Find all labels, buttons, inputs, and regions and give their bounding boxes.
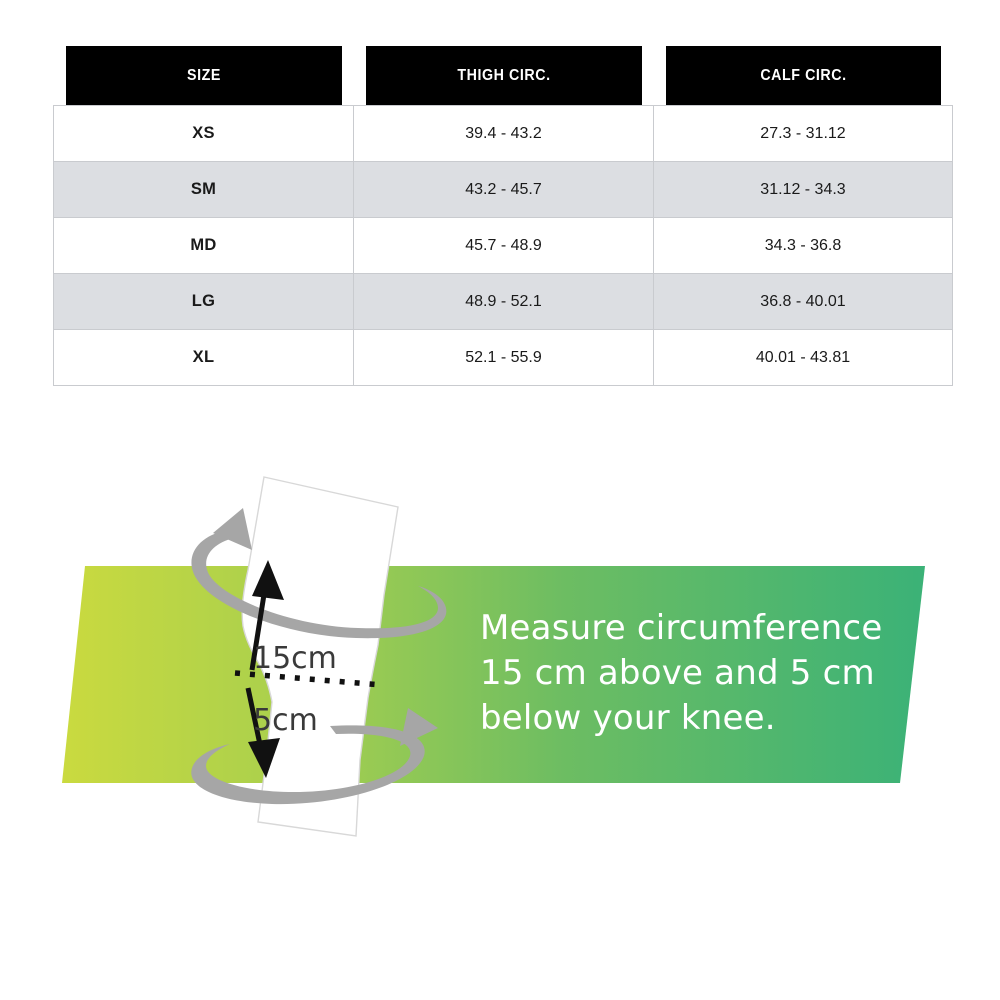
cell-thigh: 45.7 - 48.9	[354, 218, 654, 274]
column-header-thigh: THIGH CIRC.	[366, 46, 642, 106]
table-row: XL 52.1 - 55.9 40.01 - 43.81	[54, 330, 953, 386]
cell-thigh: 43.2 - 45.7	[354, 162, 654, 218]
cell-calf: 31.12 - 34.3	[654, 162, 953, 218]
label-15cm: 15cm	[253, 641, 337, 676]
measurement-illustration: 15cm 5cm Measure circumference 15 cm abo…	[0, 430, 1000, 870]
cell-calf: 27.3 - 31.12	[654, 106, 953, 162]
table-row: SM 43.2 - 45.7 31.12 - 34.3	[54, 162, 953, 218]
cell-thigh: 52.1 - 55.9	[354, 330, 654, 386]
cell-size: LG	[54, 274, 354, 330]
table-body: XS 39.4 - 43.2 27.3 - 31.12 SM 43.2 - 45…	[54, 106, 953, 386]
table-row: MD 45.7 - 48.9 34.3 - 36.8	[54, 218, 953, 274]
table-header-row: SIZE THIGH CIRC. CALF CIRC.	[54, 46, 953, 106]
column-header-calf: CALF CIRC.	[665, 46, 940, 106]
cell-size: XL	[54, 330, 354, 386]
cell-thigh: 39.4 - 43.2	[354, 106, 654, 162]
cell-thigh: 48.9 - 52.1	[354, 274, 654, 330]
cell-size: SM	[54, 162, 354, 218]
table-header: SIZE THIGH CIRC. CALF CIRC.	[54, 46, 953, 106]
size-chart-table: SIZE THIGH CIRC. CALF CIRC. XS 39.4 - 43…	[53, 46, 953, 386]
cell-size: MD	[54, 218, 354, 274]
column-header-size: SIZE	[66, 46, 342, 106]
green-banner	[62, 566, 925, 783]
label-5cm: 5cm	[253, 703, 318, 738]
cell-calf: 34.3 - 36.8	[654, 218, 953, 274]
cell-calf: 36.8 - 40.01	[654, 274, 953, 330]
table-row: XS 39.4 - 43.2 27.3 - 31.12	[54, 106, 953, 162]
cell-size: XS	[54, 106, 354, 162]
table-row: LG 48.9 - 52.1 36.8 - 40.01	[54, 274, 953, 330]
size-chart-table-container: SIZE THIGH CIRC. CALF CIRC. XS 39.4 - 43…	[53, 46, 952, 386]
cell-calf: 40.01 - 43.81	[654, 330, 953, 386]
